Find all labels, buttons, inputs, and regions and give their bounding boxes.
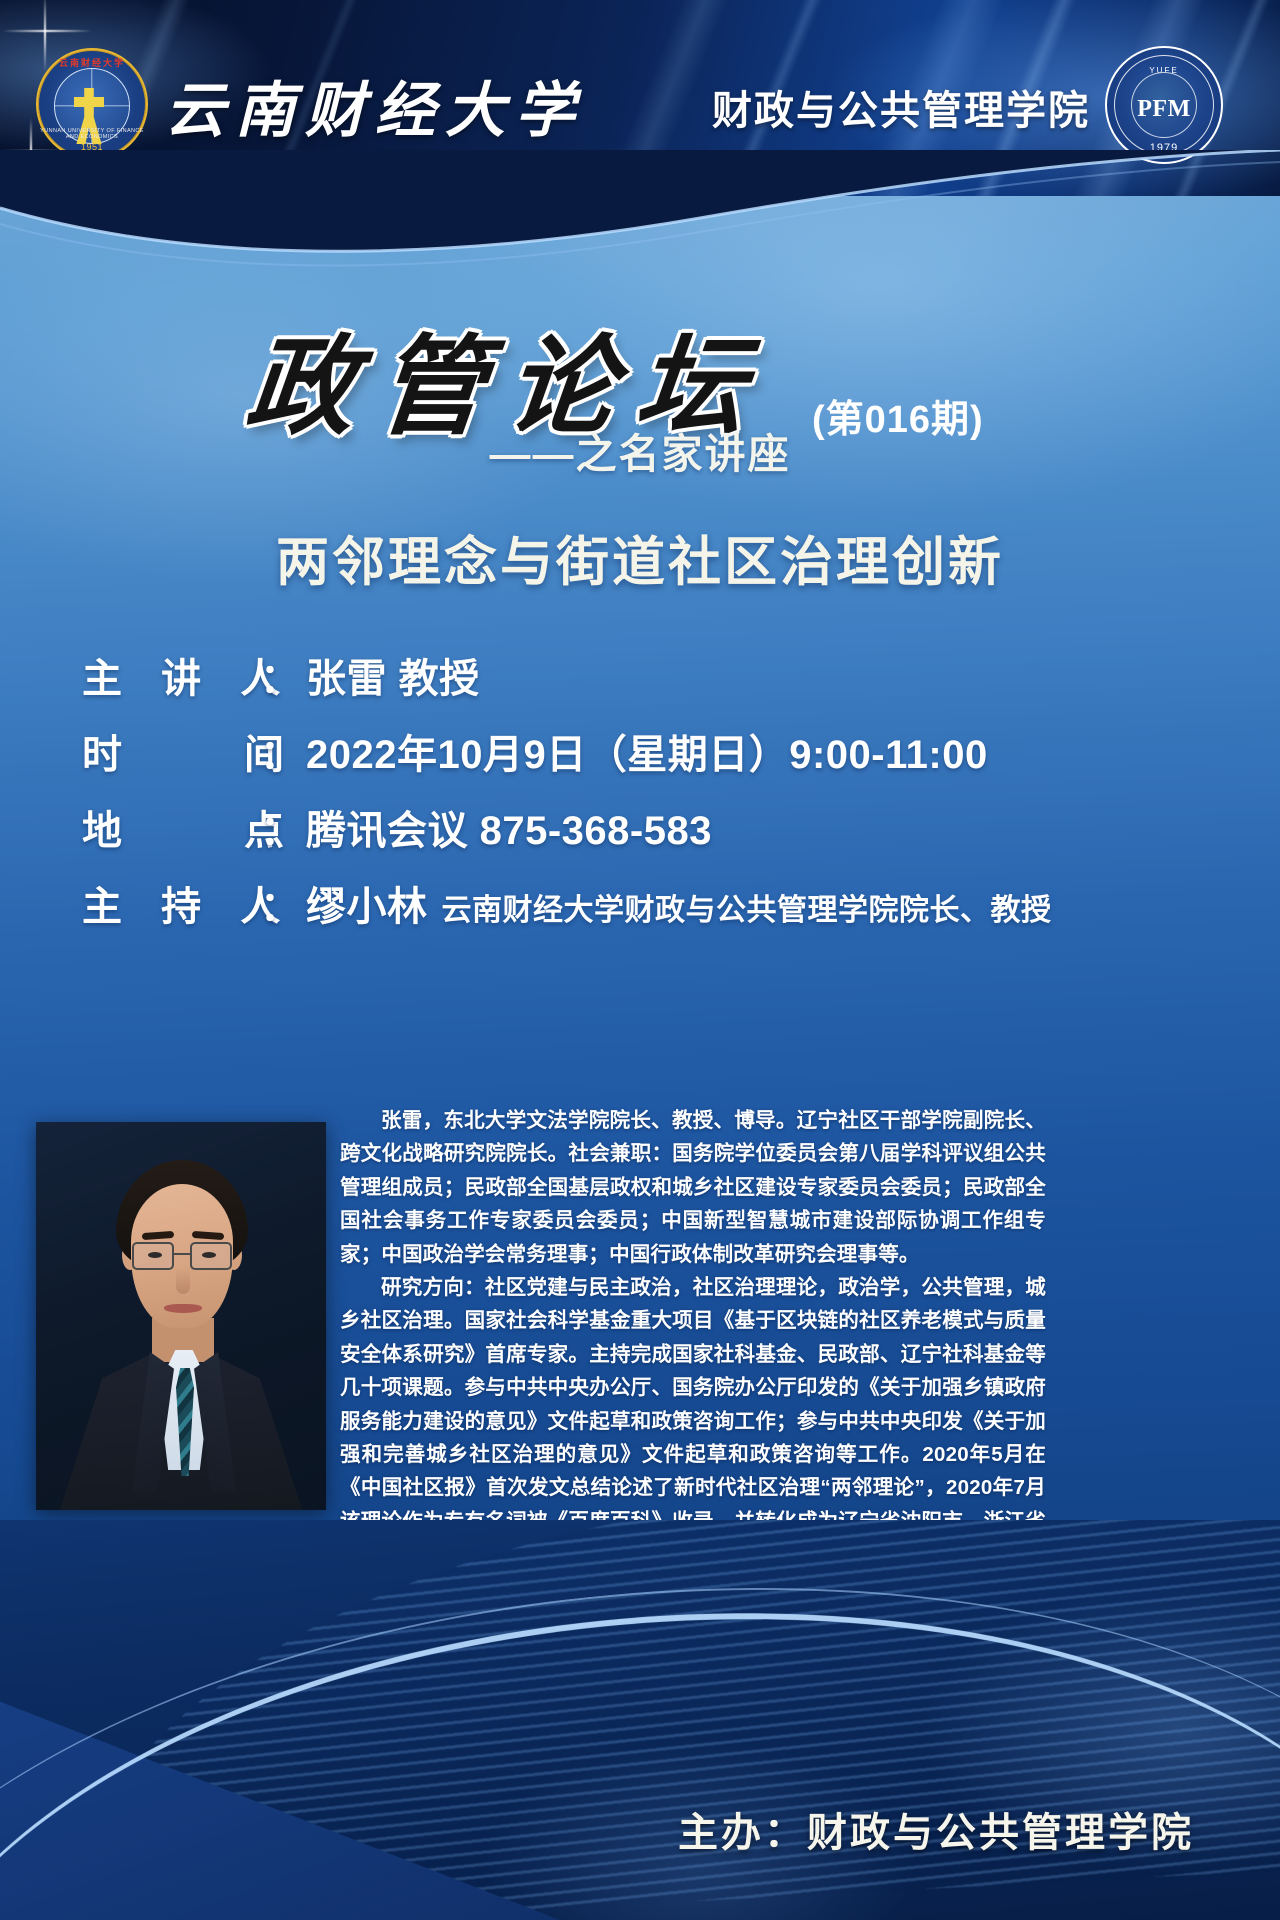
school-name: 财政与公共管理学院 — [712, 78, 1090, 136]
info-row-location: 地 点 ： 腾讯会议 875-368-583 — [82, 798, 1202, 856]
info-colon: ： — [260, 874, 300, 932]
pfm-year-text: 1979 — [1107, 142, 1221, 154]
info-value-location: 腾讯会议 875-368-583 — [306, 798, 712, 856]
glasses-lens-left — [132, 1242, 174, 1270]
logo-arc-bottom-text: YUNNAN UNIVERSITY OF FINANCE AND ECONOMI… — [36, 128, 148, 140]
header-band: 云南财经大学 YUNNAN UNIVERSITY OF FINANCE AND … — [0, 0, 1280, 196]
bio-paragraph-1: 张雷，东北大学文法学院院长、教授、博导。辽宁社区干部学院副院长、跨文化战略研究院… — [340, 1104, 1046, 1271]
school-logo-icon: YUFE PFM 1979 — [1105, 46, 1223, 164]
poster-root: 云南财经大学 YUNNAN UNIVERSITY OF FINANCE AND … — [0, 0, 1280, 1920]
lecture-topic: 两邻理念与街道社区治理创新 — [0, 520, 1280, 596]
info-label-host: 主 持 人 — [82, 874, 260, 932]
info-value-host: 缪小林 — [306, 874, 428, 932]
glasses-lens-right — [190, 1242, 232, 1270]
info-label-speaker: 主 讲 人 — [82, 646, 260, 704]
info-label-time: 时 间 — [82, 722, 260, 780]
info-colon: ： — [260, 722, 300, 780]
glasses-bridge — [174, 1253, 190, 1255]
info-block: 主 讲 人 ： 张雷 教授 时 间 ： 2022年10月9日（星期日）9:00-… — [82, 646, 1202, 950]
portrait-mouth — [164, 1304, 202, 1313]
sub-title: ——之名家讲座 — [0, 420, 1280, 480]
info-row-time: 时 间 ： 2022年10月9日（星期日）9:00-11:00 — [82, 722, 1202, 780]
pfm-acronym-text: PFM — [1107, 96, 1221, 123]
info-colon: ： — [260, 798, 300, 856]
info-row-speaker: 主 讲 人 ： 张雷 教授 — [82, 646, 1202, 704]
info-label-location: 地 点 — [82, 798, 260, 856]
info-value-host-title: 云南财经大学财政与公共管理学院院长、教授 — [442, 885, 1052, 929]
info-value-speaker: 张雷 教授 — [306, 646, 480, 704]
portrait-nose — [176, 1268, 190, 1294]
organizer-footer: 主办：财政与公共管理学院 — [0, 1800, 1280, 1858]
info-colon: ： — [260, 646, 300, 704]
sparkle-icon — [2, 30, 92, 32]
university-name: 云南财经大学 — [165, 62, 585, 149]
info-value-time: 2022年10月9日（星期日）9:00-11:00 — [306, 722, 988, 780]
sparkle-icon — [30, 118, 32, 182]
logo-year-text: 1951 — [36, 142, 148, 152]
university-logo-icon: 云南财经大学 YUNNAN UNIVERSITY OF FINANCE AND … — [36, 48, 148, 160]
speaker-portrait — [36, 1122, 326, 1510]
info-row-host: 主 持 人 ： 缪小林 云南财经大学财政与公共管理学院院长、教授 — [82, 874, 1202, 932]
